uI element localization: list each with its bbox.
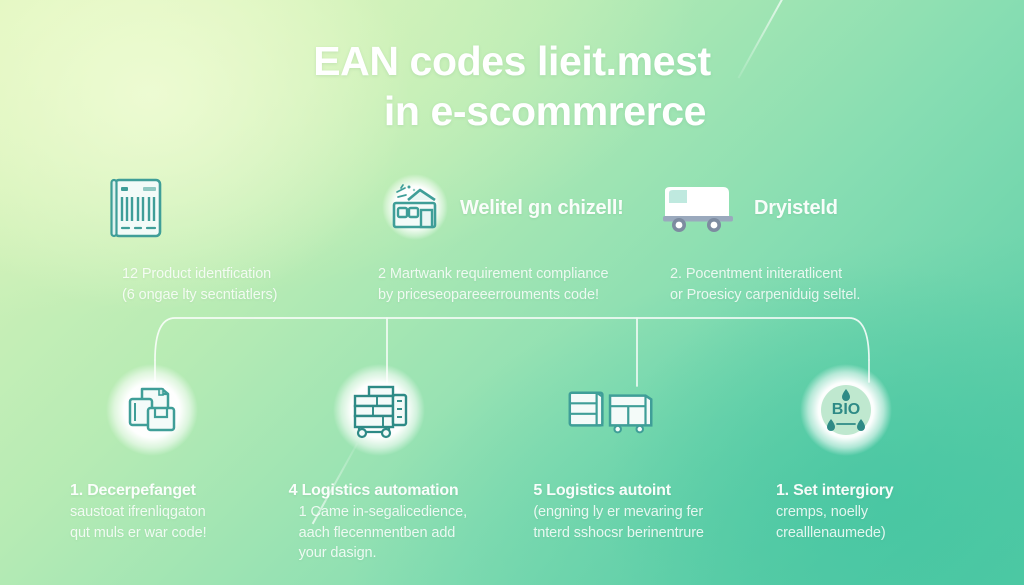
delivery-truck-icon xyxy=(656,172,744,244)
barcode-document-icon xyxy=(100,172,172,244)
top-item-delivery: Dryisteld 2. Pocentment initeratlicent o… xyxy=(656,166,924,306)
caption-line-2: or Proesicy carpeniduig seltel. xyxy=(670,287,860,303)
top-feature-row: 12 Product identfication (6 ongae lty se… xyxy=(100,166,924,306)
infographic-canvas: EAN codes lieit.mest in e-scommrerce xyxy=(0,0,1024,585)
caption-line-2: tnterd sshocsr berinentrure xyxy=(533,523,739,544)
top-item-header xyxy=(100,166,368,250)
caption-line-2: (6 ongae lty secntiatlers) xyxy=(122,287,277,303)
bottom-item-title: 4 Logistics automation xyxy=(285,482,503,500)
caption-line-1: 2 Martwank requirement compliance xyxy=(378,266,608,282)
page-title: EAN codes lieit.mest in e-scommrerce xyxy=(0,36,1024,136)
caption-line-1: saustoat ifrenliqgaton xyxy=(70,502,266,523)
page-title-line-1: EAN codes lieit.mest xyxy=(313,38,711,84)
caption-line-2: by priceseopareeerrouments code! xyxy=(378,287,599,303)
top-item-header: Welitel gn chizell! xyxy=(378,166,646,250)
bottom-item-caption: saustoat ifrenliqgaton qut muls er war c… xyxy=(48,502,266,543)
shelf-container-icon xyxy=(565,364,657,456)
page-title-line-2: in e-scommrerce xyxy=(0,86,1024,136)
bio-recycle-icon: BIO xyxy=(800,364,892,456)
boxes-package-icon xyxy=(106,364,198,456)
warehouse-bo-icon xyxy=(378,172,450,244)
top-item-label: Welitel gn chizell! xyxy=(460,197,624,220)
caption-line-2: crealllenaumede) xyxy=(776,523,976,544)
top-item-header: Dryisteld xyxy=(656,166,924,250)
caption-line-3: your dasign. xyxy=(299,543,503,564)
caption-line-1: 1 Came in-segalicedience, xyxy=(299,502,503,523)
bottom-item-title: 1. Set intergiory xyxy=(758,482,976,500)
top-item-caption: 2. Pocentment initeratlicent or Proesicy… xyxy=(656,264,924,306)
caption-line-2: qut muls er war code! xyxy=(70,523,266,544)
bottom-item-caption: (engning ly er mevaring fer tnterd sshoc… xyxy=(521,502,739,543)
bottom-item-caption: cremps, noelly crealllenaumede) xyxy=(758,502,976,543)
bottom-item-logistics-automation: 4 Logistics automation 1 Came in-segalic… xyxy=(285,364,503,564)
bottom-feature-row: 1. Decerpefanget saustoat ifrenliqgaton … xyxy=(48,364,976,564)
top-item-product-identification: 12 Product identfication (6 ongae lty se… xyxy=(100,166,368,306)
top-item-requirement-compliance: Welitel gn chizell! 2 Martwank requireme… xyxy=(378,166,646,306)
caption-line-1: cremps, noelly xyxy=(776,502,976,523)
caption-line-1: 2. Pocentment initeratlicent xyxy=(670,266,842,282)
bottom-item-caption: 1 Came in-segalicedience, aach flecenmen… xyxy=(285,502,503,564)
bottom-item-title: 5 Logistics autoint xyxy=(521,482,739,500)
caption-line-2: aach flecenmentben add xyxy=(299,523,503,544)
warehouse-rack-cart-icon xyxy=(333,364,425,456)
top-item-caption: 2 Martwank requirement compliance by pri… xyxy=(378,264,646,306)
top-item-caption: 12 Product identfication (6 ongae lty se… xyxy=(100,264,368,306)
svg-text:BIO: BIO xyxy=(832,401,860,418)
caption-line-1: 12 Product identfication xyxy=(122,266,271,282)
bottom-item-packaging: 1. Decerpefanget saustoat ifrenliqgaton … xyxy=(48,364,266,543)
bottom-item-logistics-storage: 5 Logistics autoint (engning ly er mevar… xyxy=(521,364,739,543)
caption-line-1: (engning ly er mevaring fer xyxy=(533,502,739,523)
top-item-label: Dryisteld xyxy=(754,197,838,220)
bottom-item-sustainability: BIO 1. Set intergiory cremps, noelly cre… xyxy=(758,364,976,543)
bottom-item-title: 1. Decerpefanget xyxy=(48,482,266,500)
